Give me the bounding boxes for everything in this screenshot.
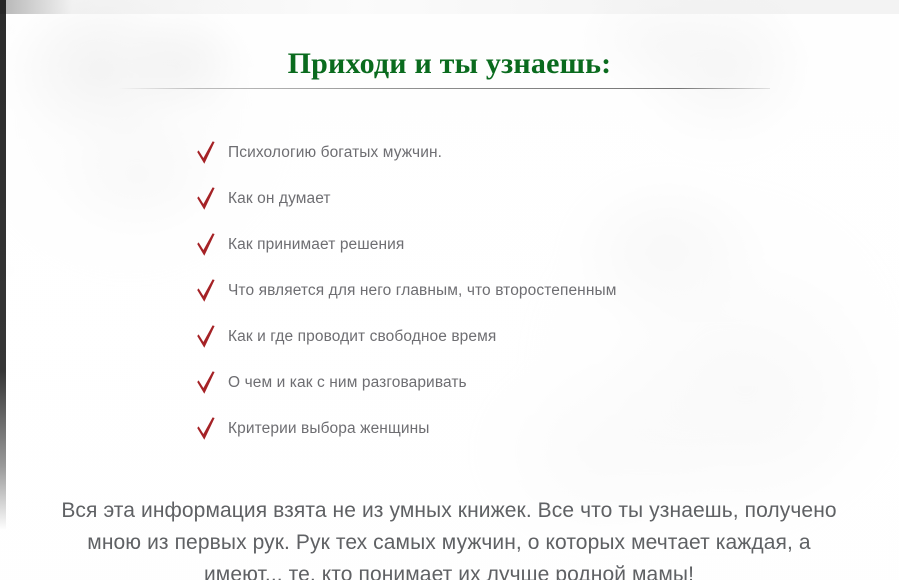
list-item: Как он думает	[196, 176, 617, 222]
title-divider	[118, 88, 770, 89]
list-item-label: Как и где проводит свободное время	[228, 328, 496, 346]
list-item-label: Психологию богатых мужчин.	[228, 144, 442, 162]
list-item: Что является для него главным, что второ…	[196, 268, 617, 314]
list-item-label: Как он думает	[228, 190, 331, 208]
list-item: О чем и как с ним разговаривать	[196, 360, 617, 406]
list-item: Критерии выбора женщины	[196, 406, 617, 452]
list-item-label: Как принимает решения	[228, 236, 404, 254]
red-check-mark-icon	[196, 324, 216, 350]
page-title: Приходи и ты узнаешь:	[0, 47, 899, 81]
red-check-mark-icon	[196, 140, 216, 166]
benefit-list: Психологию богатых мужчин. Как он думает…	[196, 130, 617, 452]
promo-page: Приходи и ты узнаешь: Психологию богатых…	[0, 0, 899, 580]
list-item-label: Критерии выбора женщины	[228, 420, 429, 438]
page-content: Приходи и ты узнаешь: Психологию богатых…	[0, 0, 899, 580]
red-check-mark-icon	[196, 278, 216, 304]
red-check-mark-icon	[196, 416, 216, 442]
red-check-mark-icon	[196, 186, 216, 212]
closing-paragraph: Вся эта информация взята не из умных кни…	[46, 495, 852, 580]
list-item: Как принимает решения	[196, 222, 617, 268]
list-item: Психологию богатых мужчин.	[196, 130, 617, 176]
red-check-mark-icon	[196, 370, 216, 396]
red-check-mark-icon	[196, 232, 216, 258]
list-item-label: Что является для него главным, что второ…	[228, 282, 617, 300]
list-item-label: О чем и как с ним разговаривать	[228, 374, 467, 392]
list-item: Как и где проводит свободное время	[196, 314, 617, 360]
